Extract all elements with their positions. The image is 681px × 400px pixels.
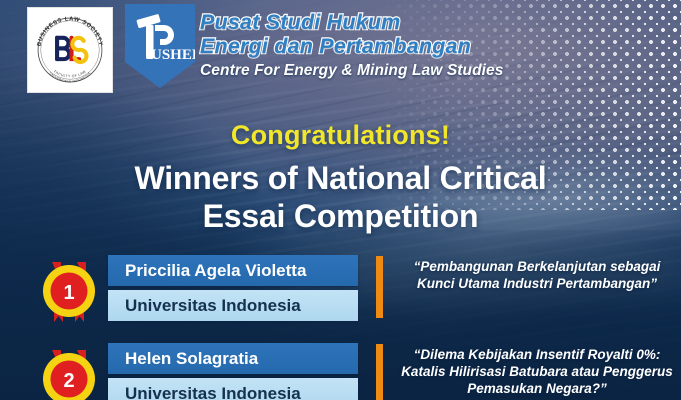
pushep-gavel-shield-icon: USHEP bbox=[125, 4, 195, 88]
winner-bands: Helen Solagratia Universitas Indonesia bbox=[108, 343, 358, 400]
medal-icon: 1 bbox=[38, 260, 100, 322]
winner-row: 2 Helen Solagratia Universitas Indonesia… bbox=[0, 340, 681, 400]
winner-row: 1 Priccilia Agela Violetta Universitas I… bbox=[0, 252, 681, 340]
poster-canvas: BUSINESS LAW SOCIETY FACULTY OF LAW UNIV… bbox=[0, 0, 681, 400]
page-title: Winners of National Critical Essai Compe… bbox=[0, 159, 681, 235]
org-subtitle: Centre For Energy & Mining Law Studies bbox=[200, 62, 504, 80]
winner-essay-title: “Pembangunan Berkelanjutan sebagai Kunci… bbox=[398, 258, 676, 292]
org-name-line-1: Pusat Studi Hukum bbox=[200, 10, 504, 34]
business-law-society-seal-icon: BUSINESS LAW SOCIETY FACULTY OF LAW UNIV… bbox=[32, 12, 108, 88]
title-block: Congratulations! Winners of National Cri… bbox=[0, 120, 681, 235]
winner-university: Universitas Indonesia bbox=[108, 290, 358, 321]
divider-bar bbox=[376, 344, 383, 400]
divider-bar bbox=[376, 256, 383, 318]
congratulations-text: Congratulations! bbox=[0, 120, 681, 151]
winner-name: Priccilia Agela Violetta bbox=[108, 255, 358, 286]
page-title-line-2: Essai Competition bbox=[0, 197, 681, 235]
winner-name: Helen Solagratia bbox=[108, 343, 358, 374]
page-title-line-1: Winners of National Critical bbox=[0, 159, 681, 197]
org-name-line-2: Energi dan Pertambangan bbox=[200, 34, 504, 58]
medal-rank: 1 bbox=[63, 282, 74, 304]
organisation-name-block: Pusat Studi Hukum Energi dan Pertambanga… bbox=[200, 10, 504, 80]
medal-rank: 2 bbox=[63, 370, 74, 392]
pushep-wordmark: USHEP bbox=[151, 47, 195, 63]
medal-icon: 2 bbox=[38, 348, 100, 400]
bls-logo: BUSINESS LAW SOCIETY FACULTY OF LAW UNIV… bbox=[27, 7, 113, 93]
winner-essay-title: “Dilema Kebijakan Insentif Royalti 0%: K… bbox=[398, 346, 676, 397]
winner-bands: Priccilia Agela Violetta Universitas Ind… bbox=[108, 255, 358, 321]
header: BUSINESS LAW SOCIETY FACULTY OF LAW UNIV… bbox=[0, 0, 681, 100]
winner-university: Universitas Indonesia bbox=[108, 378, 358, 400]
pushep-logo: USHEP bbox=[125, 4, 195, 88]
winners-list: 1 Priccilia Agela Violetta Universitas I… bbox=[0, 252, 681, 400]
